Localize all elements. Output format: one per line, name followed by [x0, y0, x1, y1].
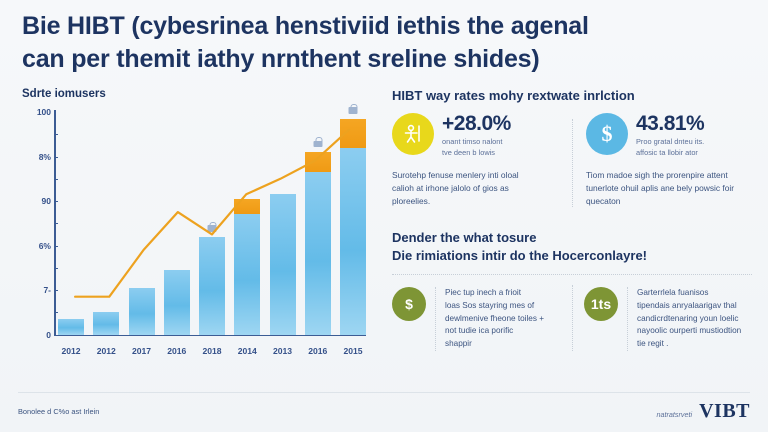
lower-item-1-line-3: dewlmenive fheone toiles +: [445, 313, 544, 326]
bar-segment-base: [340, 148, 366, 335]
brand-logo: natratsrveti VIBT: [657, 400, 750, 423]
y-axis-tick-20: 7-: [43, 285, 51, 295]
right-column: HIBT way rates mohy rextwate inrlction: [392, 88, 752, 351]
chart-panel: Sdrte iomusers 1008%906%7-0 201220122017…: [18, 88, 370, 386]
bar-segment-base: [199, 237, 225, 335]
stat-1-value: +28.0%: [442, 113, 511, 134]
stat-2-subtext: Proo gratal dnteu its. affosic ta llobir…: [636, 137, 704, 158]
y-axis-tickmark: [54, 290, 58, 291]
lower-item-1-line-2: loas Sos stayring mes of: [445, 300, 544, 313]
y-axis-tickmark: [54, 223, 58, 224]
page-title-line-1: Bie HIBT (cybesrinea henstiviid iethis t…: [22, 10, 746, 43]
lower-item-2-line-1: Garterrlela fuanisos: [637, 287, 741, 300]
stat-1-body: Surotehp fenuse menlery inti oloal calio…: [392, 169, 560, 207]
x-axis-tick-label: 2015: [340, 346, 366, 356]
stat-1-sub-line-2: tve deen b lowis: [442, 148, 511, 159]
footer-divider: [18, 392, 750, 393]
lower-item-2: 1ts Garterrlela fuanisos tipendais anrya…: [572, 287, 752, 351]
stat-2-body-line-2: tunerlote ohuil aplis ane bely powsic fo…: [586, 182, 740, 195]
count-badge-icon: 1ts: [584, 287, 618, 321]
y-axis-tickmark: [54, 134, 58, 135]
x-axis-tick-label: 2016: [164, 346, 190, 356]
y-axis-tickmark: [54, 157, 58, 158]
lock-icon: [313, 137, 322, 147]
lower-item-2-line-2: tipendais anryalaarigav thal: [637, 300, 741, 313]
dollar-icon: $: [586, 113, 628, 155]
bar-column: [129, 112, 155, 335]
x-axis-labels: 201220122017201620182014201320162015: [58, 346, 366, 356]
lower-item-1-text: Piec tup inech a frioit loas Sos stayrin…: [445, 287, 544, 351]
page-title: Bie HIBT (cybesrinea henstiviid iethis t…: [22, 10, 746, 76]
bar-segment-top: [234, 199, 260, 215]
bar-column: [93, 112, 119, 335]
lower-item-1-line-5: shappir: [445, 338, 544, 351]
bar-group: [58, 112, 366, 335]
y-axis-labels: 1008%906%7-0: [18, 110, 51, 336]
x-axis-tick-label: 2013: [270, 346, 296, 356]
bar-segment-base: [234, 214, 260, 334]
x-axis-tick-label: 2014: [234, 346, 260, 356]
stat-1-body-line-3: ploreelies.: [392, 195, 560, 208]
bar-segment-base: [58, 319, 84, 335]
bar-segment-base: [129, 288, 155, 335]
stat-2-body-line-1: Tiom madoe sigh the prorenpire attent: [586, 169, 740, 182]
lower-item-2-line-4: nayoolic ourperti mustiodtion: [637, 325, 741, 338]
x-axis-tick-label: 2017: [129, 346, 155, 356]
y-axis-tick-0: 0: [46, 330, 51, 340]
bar-segment-base: [270, 194, 296, 334]
y-axis-tick-80: 8%: [39, 152, 51, 162]
stat-1-head: +28.0% onant timso nalont tve deen b low…: [392, 113, 560, 158]
bar-segment-top: [305, 152, 331, 172]
lock-icon: [349, 104, 358, 114]
lower-item-2-line-5: tie regit .: [637, 338, 741, 351]
bar-chart: 1008%906%7-0 201220122017201620182014201…: [18, 110, 370, 358]
lower-heading-line-1: Dender the what tosure: [392, 229, 752, 247]
lower-item-1-line-1: Piec tup inech a frioit: [445, 287, 544, 300]
bar-column: [305, 112, 331, 335]
bar-column: [58, 112, 84, 335]
lower-heading-line-2: Die rimiations intir do the Hocerconlayr…: [392, 247, 752, 265]
lower-items-row: $ Piec tup inech a frioit loas Sos stayr…: [392, 274, 752, 351]
stat-1-body-line-1: Surotehp fenuse menlery inti oloal: [392, 169, 560, 182]
y-axis-tickmark: [54, 179, 58, 180]
stat-2-text: 43.81% Proo gratal dnteu its. affosic ta…: [636, 113, 704, 158]
y-axis-tickmark: [54, 246, 58, 247]
dollar-badge-icon: $: [392, 287, 426, 321]
stat-1-body-line-2: calioh at irhone jalolo of gios as: [392, 182, 560, 195]
y-axis-tick-100: 100: [37, 107, 51, 117]
y-axis-tickmark: [54, 201, 58, 202]
y-axis-tick-40: 6%: [39, 241, 51, 251]
stat-card-1: +28.0% onant timso nalont tve deen b low…: [392, 113, 572, 207]
stat-2-sub-line-2: affosic ta llobir ator: [636, 148, 704, 159]
lower-item-1-line-4: not tudie ica porific: [445, 325, 544, 338]
stat-1-text: +28.0% onant timso nalont tve deen b low…: [442, 113, 511, 158]
stat-card-2: $ 43.81% Proo gratal dnteu its. affosic …: [572, 113, 752, 207]
bar-column: [234, 112, 260, 335]
lower-item-1: $ Piec tup inech a frioit loas Sos stayr…: [392, 287, 572, 351]
stats-section-title: HIBT way rates mohy rextwate inrlction: [392, 88, 752, 103]
infographic-page: Bie HIBT (cybesrinea henstiviid iethis t…: [0, 0, 768, 432]
lower-heading: Dender the what tosure Die rimiations in…: [392, 229, 752, 265]
lower-item-2-textwrap: Garterrlela fuanisos tipendais anryalaar…: [627, 287, 741, 351]
bar-segment-base: [164, 270, 190, 335]
source-text: Bonolee d C%o ast Irlein: [18, 407, 99, 416]
bar-column: [270, 112, 296, 335]
x-axis-tick-label: 2012: [93, 346, 119, 356]
chart-title: Sdrte iomusers: [22, 88, 370, 100]
x-axis-tick-label: 2012: [58, 346, 84, 356]
x-axis-line: [54, 335, 366, 337]
stat-2-value: 43.81%: [636, 113, 704, 134]
y-axis-tickmark: [54, 312, 58, 313]
stat-2-body: Tiom madoe sigh the prorenpire attent tu…: [586, 169, 740, 207]
lock-icon: [208, 222, 217, 232]
x-axis-tick-label: 2018: [199, 346, 225, 356]
y-axis-tick-60: 90: [42, 196, 51, 206]
x-axis-tick-label: 2016: [305, 346, 331, 356]
lower-item-2-text: Garterrlela fuanisos tipendais anryalaar…: [637, 287, 741, 351]
bar-segment-top: [340, 119, 366, 148]
brand-name: VIBT: [699, 400, 750, 423]
stat-1-sub-line-1: onant timso nalont: [442, 137, 511, 148]
header: Bie HIBT (cybesrinea henstiviid iethis t…: [22, 10, 746, 76]
lower-item-2-line-3: candicrdtenaring youn loelic: [637, 313, 741, 326]
stat-2-head: $ 43.81% Proo gratal dnteu its. affosic …: [586, 113, 740, 158]
bar-column: [199, 112, 225, 335]
svg-text:$: $: [602, 121, 613, 146]
brand-tagline: natratsrveti: [657, 410, 693, 419]
lower-item-1-textwrap: Piec tup inech a frioit loas Sos stayrin…: [435, 287, 544, 351]
bar-segment-base: [305, 172, 331, 334]
footer: Bonolee d C%o ast Irlein natratsrveti VI…: [18, 400, 750, 423]
y-axis-tickmark: [54, 268, 58, 269]
stats-divider: [572, 119, 573, 207]
bar-column: [164, 112, 190, 335]
stat-1-subtext: onant timso nalont tve deen b lowis: [442, 137, 511, 158]
stat-2-body-line-3: quecaton: [586, 195, 740, 208]
figure-icon: [392, 113, 434, 155]
page-title-line-2: can per themit iathy nrnthent sreline sh…: [22, 43, 746, 76]
stats-row: +28.0% onant timso nalont tve deen b low…: [392, 113, 752, 207]
stat-2-sub-line-1: Proo gratal dnteu its.: [636, 137, 704, 148]
lower-section: Dender the what tosure Die rimiations in…: [392, 229, 752, 350]
bar-column: [340, 112, 366, 335]
lower-items-divider: [572, 285, 573, 351]
bar-segment-base: [93, 312, 119, 334]
